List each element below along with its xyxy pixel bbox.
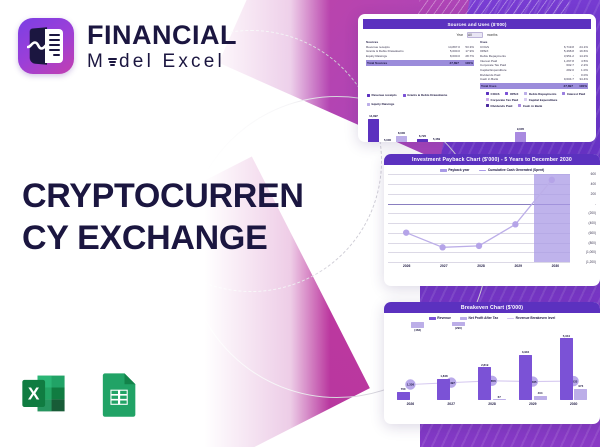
legend-item: Revenue receipts [367,92,397,99]
bar-item: 5,000 [382,109,393,142]
legend-item: Revenue Breakeven level [507,316,555,320]
legend-item: COGS [486,92,499,96]
y-tick-label: (1,200) [586,260,596,264]
bar-item: 1,268 [459,109,470,142]
bar-group: 2,81967 [472,322,513,400]
bar-group: 700(462) [390,322,431,400]
card-sources-and-uses: Sources and Uses ($'000) Year All months… [358,14,596,142]
uses-heading: Uses [480,40,588,44]
sources-uses-title: Sources and Uses ($'000) [363,19,591,29]
npat-bar: 404 [534,322,547,400]
y-tick-label: 200 [591,192,596,196]
legend-item: Cumulative Cash Generated (Spent) [479,168,544,172]
sources-column: Sources Revenue receipts14,897.053.3% Gr… [366,40,474,89]
bar-group: 3,904404 [512,322,553,400]
poster-canvas: FINANCIAL M del Excel CRYPTOCURREN CY EX… [0,0,600,447]
sources-heading: Sources [366,40,474,44]
sources-uses-table: Sources Revenue receipts14,897.053.3% Gr… [363,40,591,89]
sources-uses-controls: Year All months [363,32,591,38]
revenue-bar: 700 [397,322,410,400]
breakeven-x-axis: 20262027202820292030 [390,402,594,406]
legend-item: Cash in Bank [518,104,542,108]
logo-subtitle-part2: del Excel [119,52,225,71]
legend-item: Revenue [429,316,451,320]
x-tick-label: 2026 [388,264,425,268]
logo-title: FINANCIAL [87,22,237,49]
bar-item: 9,605 [515,109,526,142]
y-tick-label: (200) [589,211,596,215]
legend-item: Debts Repayments [524,92,556,96]
y-tick-label: (400) [589,221,596,225]
control-value[interactable]: All [467,32,483,38]
x-tick-label: 2028 [472,402,513,406]
y-tick-label: 400 [591,182,596,186]
x-tick-label: 2029 [512,402,553,406]
npat-bar: 67 [493,322,506,400]
x-tick-label: 2027 [431,402,472,406]
revenue-bar: 5,344 [560,322,573,400]
google-sheets-icon[interactable] [92,368,144,420]
uses-column: Uses COGS6,719.824.1% OPEX5,468.819.6% D… [480,40,588,89]
bar-item: 6,720 [417,109,428,142]
sources-legend: Revenue receipts Grants & Debts Drawdown… [363,89,472,109]
breakeven-title: Breakeven Chart ($'000) [384,302,600,313]
revenue-bar: 2,819 [478,322,491,400]
logo-icon [18,18,74,74]
logo-bulb-icon [107,55,118,68]
bar-item: 8,000 [396,109,407,142]
table-row: Cash in Bank9,604.734.4% [480,77,588,82]
y-tick-label: (1,000) [586,250,596,254]
sources-uses-bar-charts: 14,8975,0008,000 6,7205,4693,9511,268603… [363,109,591,142]
microsoft-excel-icon[interactable]: X [18,368,70,420]
logo-wave-icon [27,40,49,51]
payback-y-axis: 600400200-(200)(400)(600)(800)(1,000)(1,… [571,174,596,262]
legend-item: Dividends Paid [486,104,512,108]
x-tick-label: 2030 [553,402,594,406]
bar-item: - [501,109,512,142]
breakeven-legend: Revenue Net Profit After Tax Revenue Bre… [384,313,600,322]
payback-title: Investment Payback Chart ($'000) - 5 Yea… [384,154,600,165]
uses-legend: COGS OPEX Debts Repayments Interest Paid… [482,89,591,109]
logo-subtitle-part1: M [87,52,106,71]
revenue-bar: 1,848 [437,322,450,400]
sources-bar-chart: 14,8975,0008,000 [368,109,407,142]
x-tick-label: 2029 [500,264,537,268]
y-tick-label: (800) [589,241,596,245]
bar-item: 14,897 [368,109,379,142]
bar-item: 603 [473,109,484,142]
table-row: Equity Raisings8,000.028.7% [366,54,474,59]
npat-bar: 973 [574,322,587,400]
control-right-label: months [487,33,497,37]
payback-line-series [388,174,570,262]
revenue-bar: 3,904 [519,322,532,400]
legend-item: OPEX [505,92,518,96]
legend-item: Net Profit After Tax [460,316,498,320]
x-tick-label: 2028 [462,264,499,268]
svg-text:X: X [28,383,40,403]
legend-item: Interest Paid [562,92,585,96]
legend-item: Grants & Debts Drawdowns [403,92,448,99]
bar-group: 1,848(290) [431,322,472,400]
legend-item: Payback year [440,168,470,172]
x-tick-label: 2027 [425,264,462,268]
npat-bar: (462) [411,322,424,400]
file-format-icons: X [18,368,144,420]
card-breakeven: Breakeven Chart ($'000) Revenue Net Prof… [384,302,600,424]
y-tick-label: (600) [589,231,596,235]
bar-item: 5,469 [431,109,442,142]
card-investment-payback: Investment Payback Chart ($'000) - 5 Yea… [384,154,600,286]
bar-group: 5,344973 [553,322,594,400]
payback-legend: Payback year Cumulative Cash Generated (… [384,165,600,174]
bar-item: 282 [487,109,498,142]
y-tick-label: 600 [591,172,596,176]
legend-item: Corporate Tax Paid [486,98,518,102]
y-tick-label: - [595,202,596,206]
uses-bar-chart: 6,7205,4693,9511,268603282-9,605 [417,109,526,142]
payback-x-axis: 20262027202820292030 [388,264,574,268]
breakeven-plot: 1,3361,4971,6561,5851,633 700(462)1,848(… [390,322,594,400]
payback-plot: 600400200-(200)(400)(600)(800)(1,000)(1,… [388,174,596,262]
x-tick-label: 2030 [537,264,574,268]
sources-total-row: Total Sources 27,897 100% [366,60,474,66]
x-tick-label: 2026 [390,402,431,406]
page-title: CRYPTOCURREN CY EXCHANGE [22,176,322,260]
logo-subtitle: M del Excel [87,52,237,71]
legend-item: Capital Expenditure [524,98,557,102]
logo-wordmark: FINANCIAL M del Excel [87,22,237,71]
npat-bar: (290) [452,322,465,400]
legend-item: Equity Raisings [367,101,394,108]
control-left-label: Year [457,33,463,37]
bar-item: 3,951 [445,109,456,142]
brand-logo: FINANCIAL M del Excel [18,18,237,74]
